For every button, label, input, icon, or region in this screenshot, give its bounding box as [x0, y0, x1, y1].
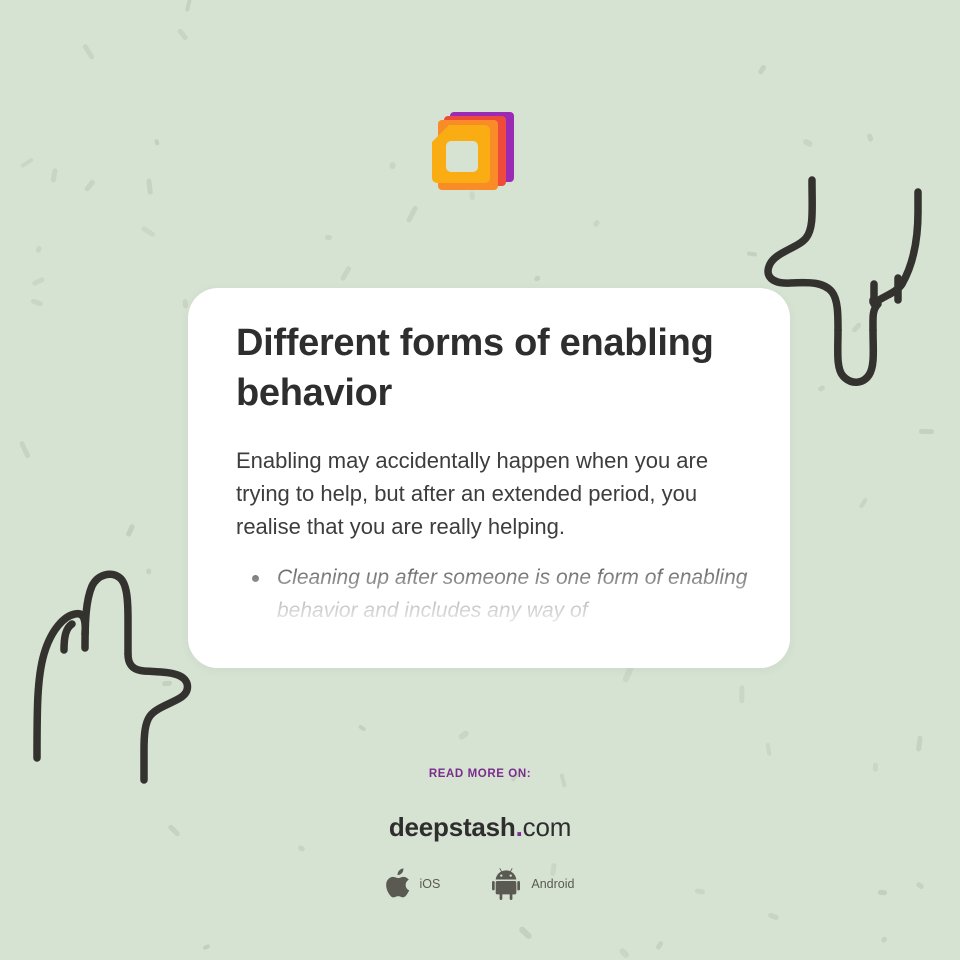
- speck: [619, 947, 630, 958]
- speck: [82, 43, 95, 60]
- footer: READ MORE ON: deepstash.com iOS: [0, 768, 960, 900]
- ios-badge[interactable]: iOS: [386, 868, 441, 899]
- deepstash-logo-icon: [424, 100, 534, 200]
- read-more-label: READ MORE ON:: [0, 768, 960, 780]
- speck: [185, 0, 192, 12]
- speck: [655, 940, 664, 950]
- speck: [146, 569, 152, 575]
- speck: [592, 219, 600, 227]
- android-badge[interactable]: Android: [492, 867, 574, 900]
- speck: [802, 138, 814, 147]
- list-item: Cleaning up after someone is one form of…: [236, 561, 756, 627]
- idea-bullet-list: Cleaning up after someone is one form of…: [236, 561, 756, 627]
- deepstash-logo: [424, 100, 534, 200]
- speck: [765, 743, 772, 756]
- speck: [162, 681, 172, 687]
- speck: [154, 139, 160, 145]
- speck: [457, 729, 469, 740]
- speck: [31, 298, 44, 306]
- android-icon: [492, 867, 523, 900]
- brand-wordmark: deepstash.com: [0, 812, 960, 843]
- idea-title: Different forms of enabling behavior: [236, 318, 756, 418]
- speck: [739, 686, 744, 704]
- android-label: Android: [531, 877, 574, 891]
- idea-card: Different forms of enabling behavior Ena…: [188, 288, 790, 668]
- speck: [340, 266, 352, 282]
- speck: [183, 299, 188, 308]
- speck: [817, 385, 825, 392]
- speck: [768, 912, 780, 921]
- speck: [84, 179, 96, 192]
- speck: [533, 275, 541, 282]
- brand-name: deepstash: [389, 812, 516, 842]
- speck: [202, 944, 210, 951]
- bullet-dot-icon: [252, 575, 259, 582]
- apple-icon: [386, 868, 412, 899]
- brand-dot: .: [516, 812, 523, 842]
- speck: [859, 497, 869, 509]
- brand-tld: com: [523, 812, 572, 842]
- pointing-hand-up-icon: [20, 558, 210, 790]
- list-item-text: Cleaning up after someone is one form of…: [277, 566, 747, 622]
- speck: [141, 225, 156, 237]
- speck: [31, 277, 45, 287]
- speck: [325, 235, 332, 240]
- idea-card-content: Different forms of enabling behavior Ena…: [236, 318, 756, 627]
- speck: [20, 158, 34, 169]
- speck: [357, 724, 366, 732]
- speck: [866, 133, 874, 142]
- speck: [757, 64, 767, 75]
- speck: [518, 925, 533, 940]
- speck: [851, 322, 862, 333]
- speck: [125, 524, 135, 538]
- speck: [747, 251, 757, 257]
- speck: [35, 245, 41, 253]
- speck: [880, 935, 888, 943]
- speck: [176, 28, 189, 42]
- speck: [919, 429, 934, 434]
- idea-body-text: Enabling may accidentally happen when yo…: [236, 444, 756, 543]
- poster-canvas: Different forms of enabling behavior Ena…: [0, 0, 960, 960]
- speck: [147, 178, 153, 194]
- speck: [19, 440, 31, 458]
- speck: [389, 162, 395, 169]
- speck: [50, 168, 57, 183]
- ios-label: iOS: [420, 877, 441, 891]
- app-store-badges: iOS Android: [0, 867, 960, 900]
- speck: [406, 205, 418, 223]
- speck: [916, 735, 923, 752]
